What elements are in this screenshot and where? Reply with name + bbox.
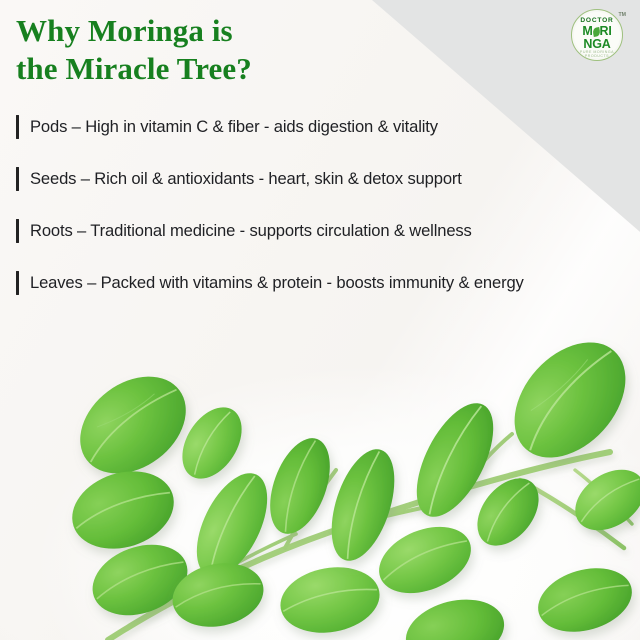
- logo-moringa-line2: NGA: [571, 38, 623, 51]
- logo-moringa-line1: MRI: [571, 25, 623, 38]
- page-title: Why Moringa is the Miracle Tree?: [16, 12, 486, 88]
- list-item: Leaves – Packed with vitamins & protein …: [16, 270, 616, 296]
- list-item: Seeds – Rich oil & antioxidants - heart,…: [16, 166, 616, 192]
- bullet-bar-icon: [16, 167, 19, 191]
- list-item: Pods – High in vitamin C & fiber - aids …: [16, 114, 616, 140]
- list-item-label: Leaves – Packed with vitamins & protein …: [30, 273, 524, 293]
- logo-moringa-line1-after: RI: [600, 24, 612, 38]
- bullet-bar-icon: [16, 219, 19, 243]
- bullet-bar-icon: [16, 271, 19, 295]
- benefits-list: Pods – High in vitamin C & fiber - aids …: [16, 114, 616, 322]
- list-item-label: Seeds – Rich oil & antioxidants - heart,…: [30, 169, 462, 189]
- list-item-label: Pods – High in vitamin C & fiber - aids …: [30, 117, 438, 137]
- list-item: Roots – Traditional medicine - supports …: [16, 218, 616, 244]
- logo-doctor-text: DOCTOR: [571, 17, 623, 24]
- logo-tagline: PURE MORINGA PRODUCTS: [571, 50, 623, 58]
- brand-logo: DOCTOR MRI NGA PURE MORINGA PRODUCTS TM: [571, 9, 623, 61]
- logo-moringa-line1-before: M: [582, 24, 592, 38]
- poster-canvas: Why Moringa is the Miracle Tree? Pods – …: [0, 0, 640, 640]
- list-item-label: Roots – Traditional medicine - supports …: [30, 221, 472, 241]
- bullet-bar-icon: [16, 115, 19, 139]
- trademark-icon: TM: [619, 12, 627, 18]
